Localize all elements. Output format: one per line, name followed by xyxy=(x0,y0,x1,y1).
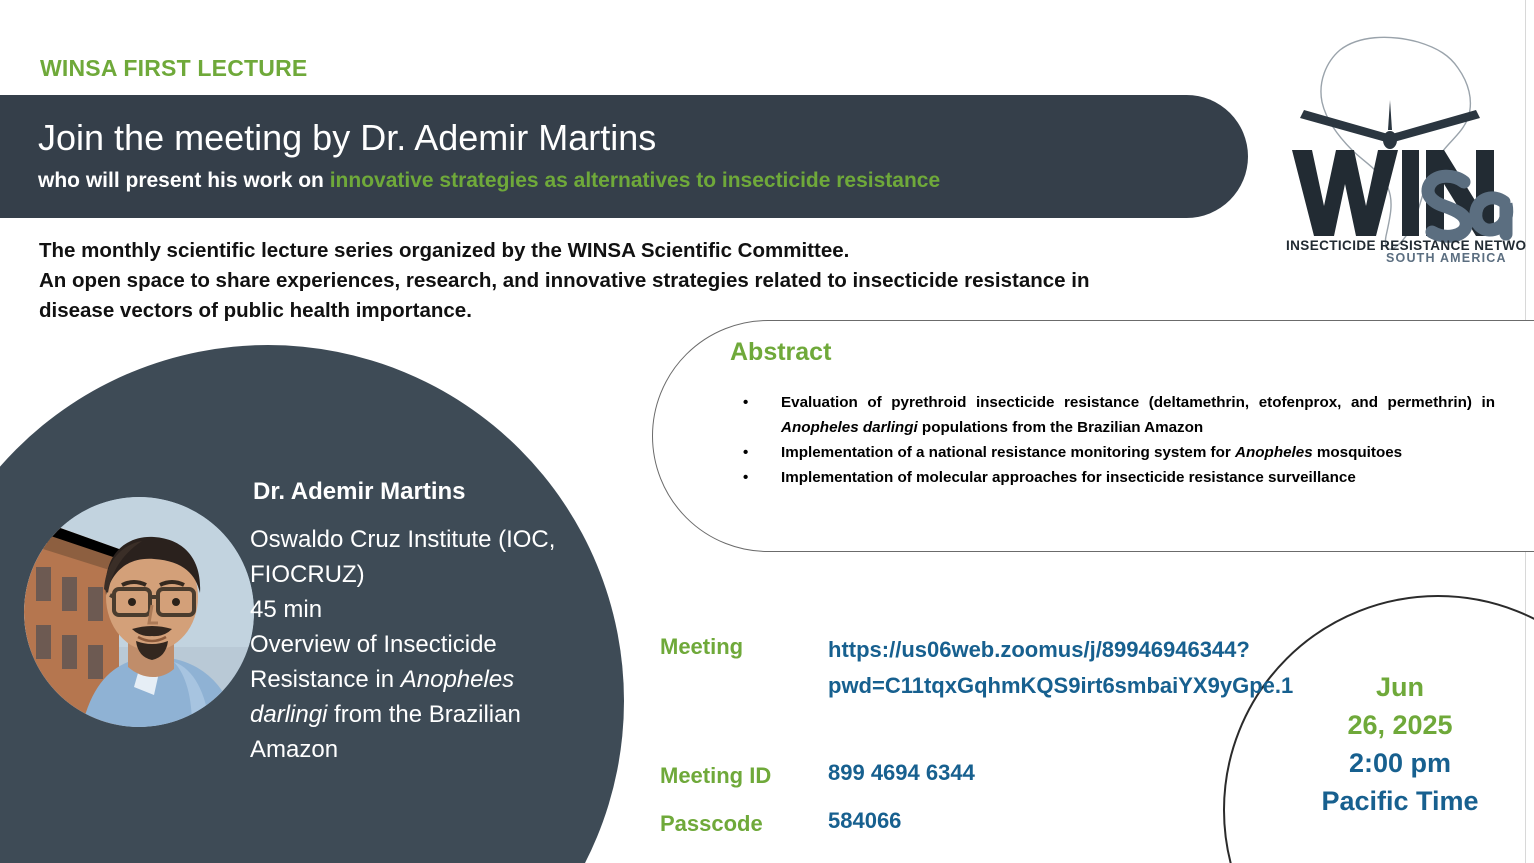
meeting-link-url[interactable]: https://us06web.zoomus/j/89946946344?pwd… xyxy=(828,632,1228,704)
event-timezone: Pacific Time xyxy=(1300,782,1500,820)
intro-line-2: An open space to share experiences, rese… xyxy=(39,266,1219,296)
bullet-icon: • xyxy=(743,465,748,490)
intro-line-1: The monthly scientific lecture series or… xyxy=(39,236,1219,266)
intro-paragraph: The monthly scientific lecture series or… xyxy=(39,236,1219,326)
winsa-logo-icon: INSECTICIDE RESISTANCE NETWORK SOUTH AME… xyxy=(1268,22,1526,262)
banner-title: Join the meeting by Dr. Ademir Martins xyxy=(38,117,656,159)
abstract-bullet-list: •Evaluation of pyrethroid insecticide re… xyxy=(735,390,1495,490)
date-day-year: 26, 2025 xyxy=(1300,706,1500,744)
header-banner: Join the meeting by Dr. Ademir Martins w… xyxy=(0,95,1248,218)
meeting-id-label: Meeting ID xyxy=(660,763,771,789)
bullet-species: Anopheles xyxy=(1235,444,1313,461)
bullet-text-part2: populations from the Brazilian Amazon xyxy=(918,419,1204,436)
bullet-icon: • xyxy=(743,390,748,415)
banner-subtitle-highlight: innovative strategies as alternatives to… xyxy=(330,169,940,192)
speaker-details: Oswaldo Cruz Institute (IOC, FIOCRUZ) 45… xyxy=(250,522,570,767)
speaker-affiliation: Oswaldo Cruz Institute (IOC, FIOCRUZ) xyxy=(250,522,570,592)
bullet-text-part1: Implementation of molecular approaches f… xyxy=(781,469,1356,486)
speaker-avatar xyxy=(24,497,254,727)
meeting-id-value[interactable]: 899 4694 6344 xyxy=(828,760,975,786)
abstract-title: Abstract xyxy=(730,338,831,367)
bullet-text-part1: Implementation of a national resistance … xyxy=(781,444,1235,461)
logo-tagline-line2: SOUTH AMERICA xyxy=(1386,251,1507,262)
bullet-text-part1: Evaluation of pyrethroid insecticide res… xyxy=(781,394,1495,411)
event-time: 2:00 pm xyxy=(1300,744,1500,782)
abstract-bullet-item: •Evaluation of pyrethroid insecticide re… xyxy=(735,390,1495,440)
passcode-value[interactable]: 584066 xyxy=(828,808,901,834)
abstract-bullet-item: •Implementation of a national resistance… xyxy=(735,440,1495,465)
banner-subtitle-plain: who will present his work on xyxy=(38,169,330,192)
bullet-text-part2: mosquitoes xyxy=(1313,444,1402,461)
abstract-bullet-item: •Implementation of molecular approaches … xyxy=(735,465,1495,490)
bullet-icon: • xyxy=(743,440,748,465)
date-time-block: Jun 26, 2025 2:00 pm Pacific Time xyxy=(1300,668,1500,820)
lecture-flyer: WINSA FIRST LECTURE Join the meeting by … xyxy=(0,0,1534,863)
speaker-name: Dr. Ademir Martins xyxy=(253,478,466,506)
bullet-species: Anopheles darlingi xyxy=(781,419,918,436)
eyebrow-label: WINSA FIRST LECTURE xyxy=(40,55,307,82)
winsa-logo: INSECTICIDE RESISTANCE NETWORK SOUTH AME… xyxy=(1268,22,1526,262)
speaker-duration: 45 min xyxy=(250,592,570,627)
passcode-label: Passcode xyxy=(660,811,763,837)
meeting-link-label: Meeting xyxy=(660,634,743,660)
banner-subtitle: who will present his work on innovative … xyxy=(38,169,940,193)
portrait-photo-icon xyxy=(24,497,254,727)
speaker-talk-title: Overview of Insecticide Resistance in An… xyxy=(250,627,570,767)
date-month: Jun xyxy=(1300,668,1500,706)
